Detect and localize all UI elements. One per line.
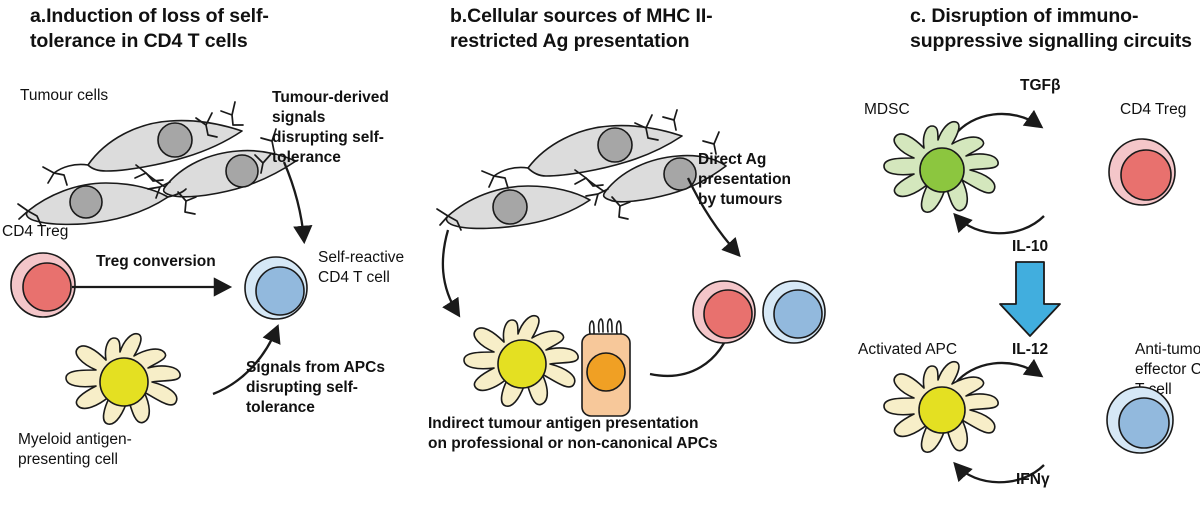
label-tumour-derived-signals: Tumour-derived signals disrupting self- … <box>272 88 397 169</box>
cd4-treg-cell-a <box>6 248 80 322</box>
cd4-t-cell-b <box>758 276 830 348</box>
label-tgfb: TGFβ <box>1020 76 1060 96</box>
label-cd4-treg-a: CD4 Treg <box>2 222 68 242</box>
effector-cd4-t-cell <box>1102 382 1178 458</box>
block-arrow-down <box>998 260 1068 340</box>
epithelial-apc-cell <box>568 318 648 428</box>
tumour-cell-cluster-a <box>10 95 270 235</box>
label-ifng: IFNγ <box>1016 470 1050 490</box>
label-treg-conversion: Treg conversion <box>96 252 216 272</box>
caption-indirect-presentation: Indirect tumour antigen presentation on … <box>428 414 828 454</box>
panel-a-title: a.Induction of loss of self- tolerance i… <box>30 4 360 54</box>
activated-apc-cell <box>858 358 1018 488</box>
panel-c-title: c. Disruption of immuno- suppressive sig… <box>910 4 1200 54</box>
figure-canvas: a.Induction of loss of self- tolerance i… <box>0 0 1200 496</box>
label-signals-from-apcs: Signals from APCs disrupting self- toler… <box>246 358 396 418</box>
panel-a: a.Induction of loss of self- tolerance i… <box>0 0 420 496</box>
arrow-treg-conversion <box>70 278 240 298</box>
cd4-treg-cell-b <box>688 276 760 348</box>
arrow-direct-presentation <box>682 172 772 272</box>
cd4-treg-cell-c <box>1104 134 1180 210</box>
self-reactive-cd4-t-cell <box>240 252 312 324</box>
panel-b: b.Cellular sources of MHC II- restricted… <box>420 0 840 496</box>
label-self-reactive-cd4-t-cell: Self-reactive CD4 T cell <box>318 248 418 288</box>
label-myeloid-apc: Myeloid antigen- presenting cell <box>18 430 178 470</box>
panel-c: c. Disruption of immuno- suppressive sig… <box>840 0 1200 496</box>
label-il10: IL-10 <box>1012 237 1048 257</box>
mdsc-cell <box>858 118 1018 248</box>
panel-b-title: b.Cellular sources of MHC II- restricted… <box>450 4 790 54</box>
